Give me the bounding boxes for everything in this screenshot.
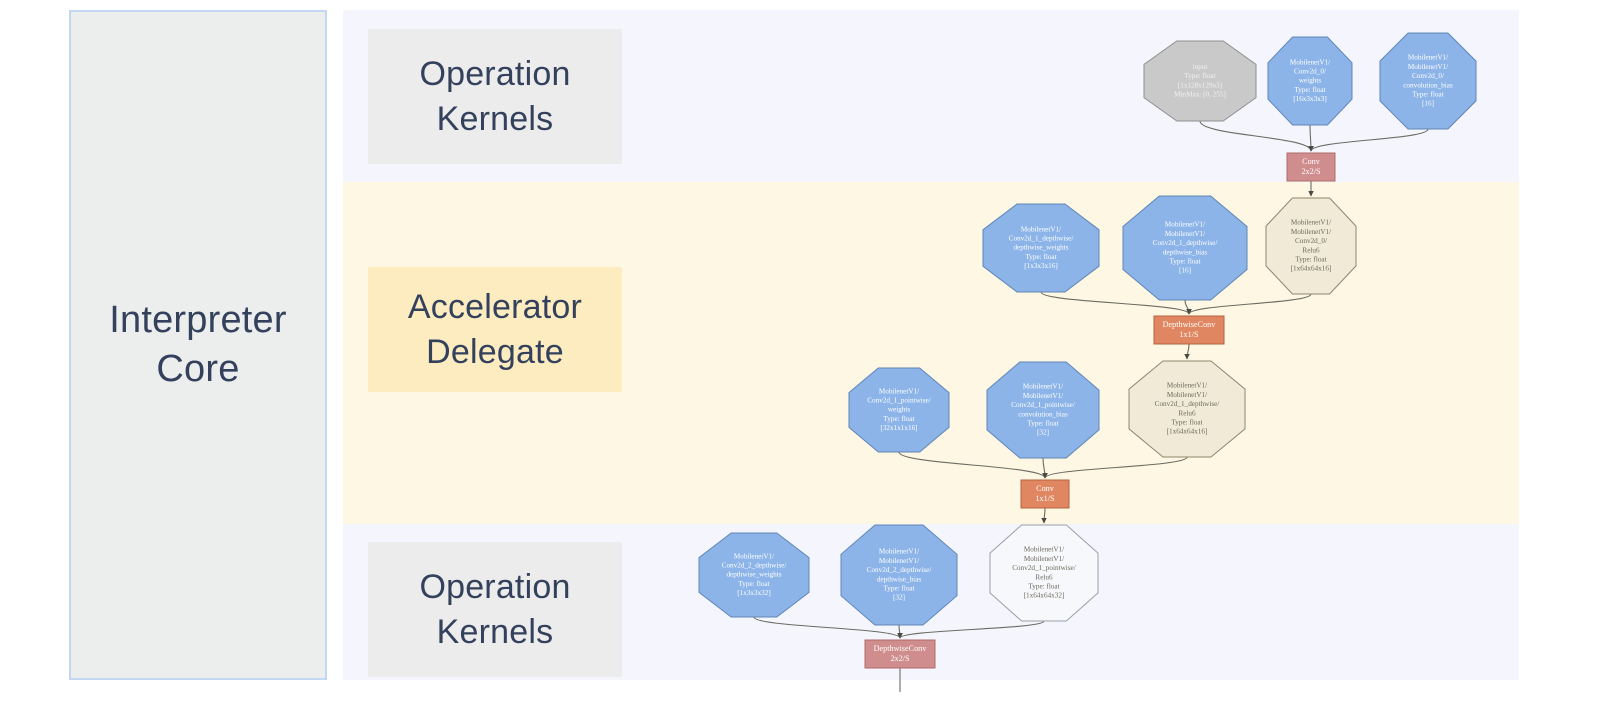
tensor-node-line: [1x64x64x16] <box>1167 428 1208 436</box>
tensor-node-line: MobilenetV1/ <box>879 387 919 395</box>
graph-edge <box>1045 457 1187 478</box>
tensor-node-line: Conv2d_0/ <box>1294 67 1326 75</box>
tensor-node-line: Conv2d_1_pointwise/ <box>867 396 931 404</box>
tensor-node-line: [16] <box>1422 100 1434 108</box>
op-node-depthwiseconv_1[interactable]: DepthwiseConv1x1/S <box>1154 316 1224 344</box>
tensor-node-line: MobilenetV1/ <box>1024 555 1064 563</box>
tensor-node-line: MinMax: [0, 255] <box>1174 90 1226 98</box>
tensor-node-line: Conv2d_1_pointwise/ <box>1011 401 1075 409</box>
tensor-node-line: Conv2d_1_depthwise/ <box>1155 400 1220 408</box>
op-node-line: 2x2/S <box>1301 167 1321 176</box>
tensor-node-line: Type: float <box>738 580 769 588</box>
tensor-node-line: Conv2d_0/ <box>1295 237 1327 245</box>
tensor-node-line: input <box>1193 63 1208 71</box>
tensor-node-conv2d_1_depthwise_bias[interactable]: MobilenetV1/MobilenetV1/Conv2d_1_depthwi… <box>1123 196 1247 300</box>
tensor-node-line: [32] <box>1037 429 1049 437</box>
op-node-line: 1x1/S <box>1035 494 1055 503</box>
op-node-depthwiseconv_2[interactable]: DepthwiseConv2x2/S <box>865 640 935 668</box>
graph-diagram-panel: Operation Kernels Accelerator Delegate O… <box>343 10 1519 680</box>
tensor-node-line: MobilenetV1/ <box>879 548 919 556</box>
tensor-node-line: depthwise_weights <box>1013 244 1068 252</box>
interpreter-core-label: Interpreter Core <box>109 296 287 393</box>
tensor-node-conv2d_0_relu6[interactable]: MobilenetV1/MobilenetV1/Conv2d_0/Relu6Ty… <box>1266 198 1356 294</box>
tensor-node-line: MobilenetV1/ <box>1021 225 1061 233</box>
tensor-node-line: MobilenetV1/ <box>1408 63 1448 71</box>
tensor-node-line: Conv2d_1_pointwise/ <box>1012 564 1076 572</box>
tensor-node-line: [1x3x3x32] <box>737 589 771 597</box>
tensor-node-conv2d_1_depthwise_weights[interactable]: MobilenetV1/Conv2d_1_depthwise/depthwise… <box>983 204 1099 292</box>
tensor-node-line: [16x3x3x3] <box>1293 95 1327 103</box>
tensor-node-line: [1x3x3x16] <box>1024 262 1058 270</box>
op-node-line: DepthwiseConv <box>874 644 928 653</box>
op-node-line: DepthwiseConv <box>1163 320 1217 329</box>
tensor-node-line: weights <box>1299 77 1322 85</box>
op-node-line: Conv <box>1302 157 1321 166</box>
tensor-node-conv2d_2_depthwise_weights[interactable]: MobilenetV1/Conv2d_2_depthwise/depthwise… <box>699 533 809 617</box>
tensor-node-line: convolution_bias <box>1018 410 1068 418</box>
op-node-line: 1x1/S <box>1179 330 1199 339</box>
tensor-node-line: MobilenetV1/ <box>1167 391 1207 399</box>
tensor-node-line: MobilenetV1/ <box>1291 219 1331 227</box>
tensor-node-line: [32] <box>893 594 905 602</box>
tensor-node-line: Type: float <box>883 415 914 423</box>
tensor-node-line: MobilenetV1/ <box>1165 221 1205 229</box>
op-node-line: Conv <box>1036 484 1055 493</box>
graph-edge <box>1311 129 1428 151</box>
tensor-node-line: MobilenetV1/ <box>1290 58 1330 66</box>
tensor-node-conv2d_1_pointwise_convolution_bias[interactable]: MobilenetV1/MobilenetV1/Conv2d_1_pointwi… <box>987 362 1099 458</box>
tensor-node-line: [32x1x1x16] <box>880 424 917 432</box>
tensor-node-line: depthwise_bias <box>877 575 922 583</box>
tensor-node-input[interactable]: inputType: float[1x128x128x3]MinMax: [0,… <box>1144 41 1256 121</box>
tflite-graph-screenshot: Interpreter Core Operation Kernels Accel… <box>0 0 1600 711</box>
interpreter-core-panel: Interpreter Core <box>69 10 327 680</box>
tensor-node-line: MobilenetV1/ <box>1023 383 1063 391</box>
tensor-node-line: [16] <box>1179 267 1191 275</box>
tensor-node-line: MobilenetV1/ <box>734 552 774 560</box>
tensor-node-line: Type: float <box>1412 90 1443 98</box>
tensor-node-line: depthwise_weights <box>726 571 781 579</box>
graph-nodes: inputType: float[1x128x128x3]MinMax: [0,… <box>699 33 1476 668</box>
tensor-node-line: MobilenetV1/ <box>1024 546 1064 554</box>
tensor-node-line: Conv2d_1_depthwise/ <box>1009 234 1074 242</box>
tensor-node-line: Type: float <box>1184 72 1215 80</box>
tensor-node-line: Type: float <box>883 584 914 592</box>
graph-edge <box>1310 125 1311 151</box>
graph-svg: inputType: float[1x128x128x3]MinMax: [0,… <box>343 10 1519 680</box>
tensor-node-line: Conv2d_1_depthwise/ <box>1153 239 1218 247</box>
tensor-node-line: Type: float <box>1169 257 1200 265</box>
tensor-node-conv2d_2_depthwise_bias[interactable]: MobilenetV1/MobilenetV1/Conv2d_2_depthwi… <box>841 525 957 625</box>
tensor-node-line: depthwise_bias <box>1163 248 1208 256</box>
tensor-node-conv2d_1_pointwise_relu6[interactable]: MobilenetV1/MobilenetV1/Conv2d_1_pointwi… <box>990 525 1098 621</box>
tensor-node-conv2d_0_weights[interactable]: MobilenetV1/Conv2d_0/weightsType: float[… <box>1268 37 1352 125</box>
op-node-line: 2x2/S <box>890 654 910 663</box>
tensor-node-line: Conv2d_0/ <box>1412 72 1444 80</box>
tensor-node-line: [1x64x64x16] <box>1291 265 1332 273</box>
tensor-node-line: MobilenetV1/ <box>879 557 919 565</box>
tensor-node-line: Type: float <box>1295 255 1326 263</box>
tensor-node-line: convolution_bias <box>1403 81 1453 89</box>
tensor-node-line: MobilenetV1/ <box>1291 228 1331 236</box>
graph-edge <box>899 625 900 638</box>
tensor-node-line: Conv2d_2_depthwise/ <box>722 561 787 569</box>
tensor-node-line: [1x128x128x3] <box>1178 81 1222 89</box>
op-node-conv_1[interactable]: Conv1x1/S <box>1021 480 1069 508</box>
tensor-node-line: Type: float <box>1027 419 1058 427</box>
tensor-node-line: Type: float <box>1028 582 1059 590</box>
tensor-node-line: Type: float <box>1294 86 1325 94</box>
tensor-node-line: MobilenetV1/ <box>1167 382 1207 390</box>
tensor-node-conv2d_1_pointwise_weights[interactable]: MobilenetV1/Conv2d_1_pointwise/weightsTy… <box>849 368 949 452</box>
tensor-node-line: MobilenetV1/ <box>1408 54 1448 62</box>
tensor-node-line: Conv2d_2_depthwise/ <box>867 566 932 574</box>
tensor-node-line: [1x64x64x32] <box>1024 592 1065 600</box>
tensor-node-line: Relu6 <box>1178 409 1196 417</box>
tensor-node-line: Type: float <box>1025 253 1056 261</box>
tensor-node-line: weights <box>888 406 911 414</box>
tensor-node-line: MobilenetV1/ <box>1023 392 1063 400</box>
graph-edge <box>1043 458 1045 478</box>
tensor-node-line: Type: float <box>1171 418 1202 426</box>
graph-edge <box>1187 344 1189 359</box>
tensor-node-line: MobilenetV1/ <box>1165 230 1205 238</box>
tensor-node-conv2d_1_depthwise_relu6[interactable]: MobilenetV1/MobilenetV1/Conv2d_1_depthwi… <box>1129 361 1245 457</box>
op-node-conv_0[interactable]: Conv2x2/S <box>1287 153 1335 181</box>
tensor-node-line: Relu6 <box>1302 246 1320 254</box>
tensor-node-conv2d_0_convolution_bias[interactable]: MobilenetV1/MobilenetV1/Conv2d_0/convolu… <box>1380 33 1476 129</box>
tensor-node-line: Relu6 <box>1035 573 1053 581</box>
graph-edge <box>1044 508 1045 523</box>
